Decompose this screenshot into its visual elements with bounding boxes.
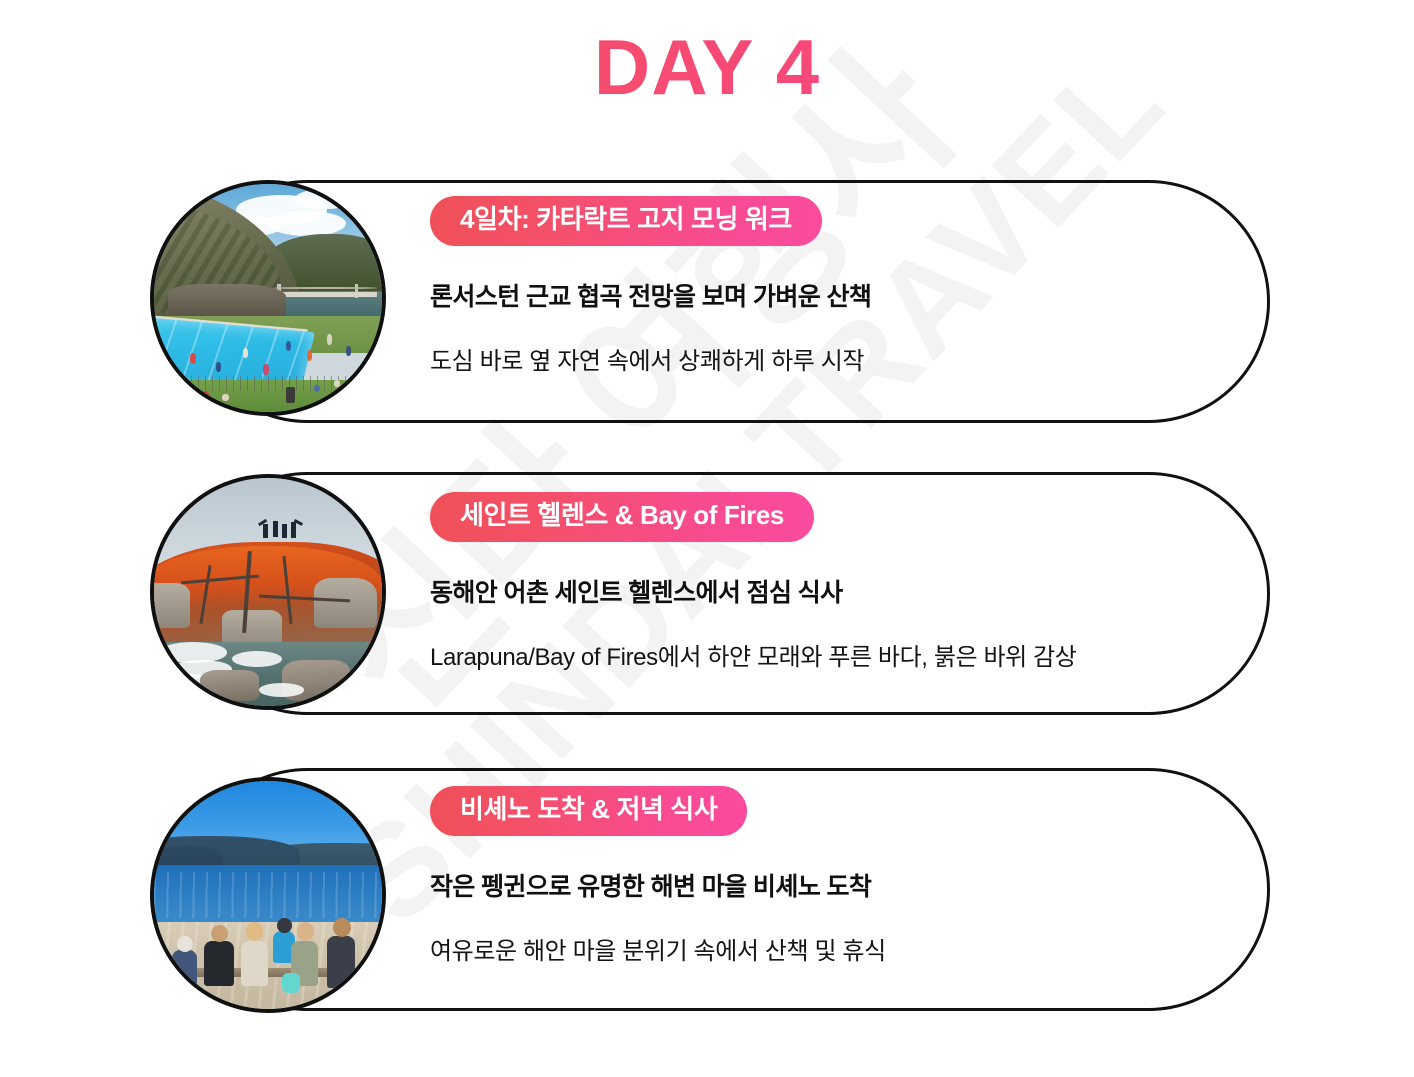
card-photo-bicheno-beach	[150, 777, 386, 1013]
card-badge: 4일차: 카타락트 고지 모닝 워크	[430, 196, 822, 246]
scene-cataract-gorge	[154, 184, 382, 412]
card-secondary-line: 여유로운 해안 마을 분위기 속에서 산책 및 휴식	[430, 931, 1230, 966]
page-title: DAY 4	[0, 22, 1414, 113]
card-content-2: 세인트 헬렌스 & Bay of Fires 동해안 어촌 세인트 헬렌스에서 …	[430, 492, 1230, 672]
card-content-3: 비셰노 도착 & 저녁 식사 작은 펭귄으로 유명한 해변 마을 비셰노 도착 …	[430, 786, 1230, 966]
card-content-1: 4일차: 카타락트 고지 모닝 워크 론서스턴 근교 협곡 전망을 보며 가벼운…	[430, 196, 1230, 376]
card-primary-line: 작은 펭귄으로 유명한 해변 마을 비셰노 도착	[430, 867, 1230, 903]
card-secondary-line: 도심 바로 옆 자연 속에서 상쾌하게 하루 시작	[430, 341, 1230, 376]
card-badge: 비셰노 도착 & 저녁 식사	[430, 786, 747, 836]
card-photo-bay-of-fires	[150, 474, 386, 710]
card-secondary-line: Larapuna/Bay of Fires에서 하얀 모래와 푸른 바다, 붉은…	[430, 637, 1230, 672]
scene-bay-of-fires	[154, 478, 382, 706]
card-badge: 세인트 헬렌스 & Bay of Fires	[430, 492, 814, 542]
card-photo-cataract-gorge	[150, 180, 386, 416]
card-primary-line: 동해안 어촌 세인트 헬렌스에서 점심 식사	[430, 573, 1230, 609]
scene-bicheno-beach	[154, 781, 382, 1009]
card-primary-line: 론서스턴 근교 협곡 전망을 보며 가벼운 산책	[430, 277, 1230, 313]
